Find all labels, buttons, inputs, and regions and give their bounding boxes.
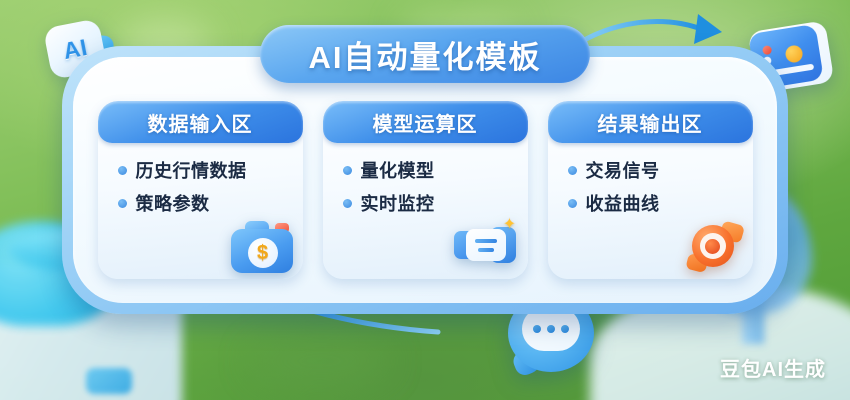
card-header: 结果输出区 — [548, 101, 753, 143]
list-item-label: 实时监控 — [361, 190, 435, 216]
card-body: 历史行情数据 策略参数 — [98, 143, 303, 216]
dashboard-dot-red — [762, 45, 772, 55]
document-front — [466, 229, 506, 261]
bullet-icon — [568, 199, 577, 208]
list-item-label: 历史行情数据 — [136, 157, 247, 183]
bullet-icon — [118, 199, 127, 208]
list-item: 历史行情数据 — [118, 157, 303, 183]
target-ring-inner — [705, 239, 720, 254]
bullet-icon — [343, 199, 352, 208]
target-siren-icon — [685, 219, 743, 273]
card-body: 交易信号 收益曲线 — [548, 143, 753, 216]
list-item-label: 量化模型 — [361, 157, 435, 183]
card-header-label: 模型运算区 — [373, 108, 478, 137]
page-title-text: AI自动量化模板 — [309, 32, 542, 77]
list-item: 交易信号 — [568, 157, 753, 183]
card-header-label: 数据输入区 — [148, 108, 253, 137]
money-camera-icon: $ — [231, 221, 293, 273]
card-body: 量化模型 实时监控 — [323, 143, 528, 216]
list-item-label: 交易信号 — [586, 157, 660, 183]
chat-bubble-dot — [561, 325, 569, 333]
list-item: 收益曲线 — [568, 190, 753, 216]
sparkle-icon: ✦ — [502, 217, 518, 233]
background-prop-chip — [86, 368, 132, 394]
list-item-label: 收益曲线 — [586, 190, 660, 216]
dashboard-dot-orange — [784, 44, 803, 63]
chat-bubble-dot — [547, 325, 555, 333]
siren-body — [692, 225, 734, 267]
bullet-icon — [118, 166, 127, 175]
list-item: 量化模型 — [343, 157, 528, 183]
list-item: 实时监控 — [343, 190, 528, 216]
card-header-label: 结果输出区 — [598, 108, 703, 137]
page-title: AI自动量化模板 — [260, 25, 590, 83]
main-frame: AI自动量化模板 数据输入区 历史行情数据 策略 — [62, 46, 788, 314]
card-header: 模型运算区 — [323, 101, 528, 143]
card-row: 数据输入区 历史行情数据 策略参数 — [73, 101, 777, 279]
background-blob — [250, 334, 390, 388]
list-item: 策略参数 — [118, 190, 303, 216]
card-model-compute[interactable]: 模型运算区 量化模型 实时监控 — [323, 101, 528, 279]
document-line — [478, 248, 494, 252]
bullet-icon — [568, 166, 577, 175]
document-sparkle-icon: ✦ — [454, 219, 518, 273]
card-result-output[interactable]: 结果输出区 交易信号 收益曲线 — [548, 101, 753, 279]
list-item-label: 策略参数 — [136, 190, 210, 216]
poster-canvas: AI AI自动量化模板 — [0, 0, 850, 400]
main-frame-inner: AI自动量化模板 数据输入区 历史行情数据 策略 — [73, 57, 777, 303]
document-line — [475, 239, 497, 243]
card-header: 数据输入区 — [98, 101, 303, 143]
chat-bubble-dot — [533, 325, 541, 333]
watermark: 豆包AI生成 — [720, 353, 826, 382]
target-ring-outer — [700, 233, 726, 259]
card-data-input[interactable]: 数据输入区 历史行情数据 策略参数 — [98, 101, 303, 279]
bullet-icon — [343, 166, 352, 175]
dollar-coin-icon: $ — [248, 238, 278, 268]
